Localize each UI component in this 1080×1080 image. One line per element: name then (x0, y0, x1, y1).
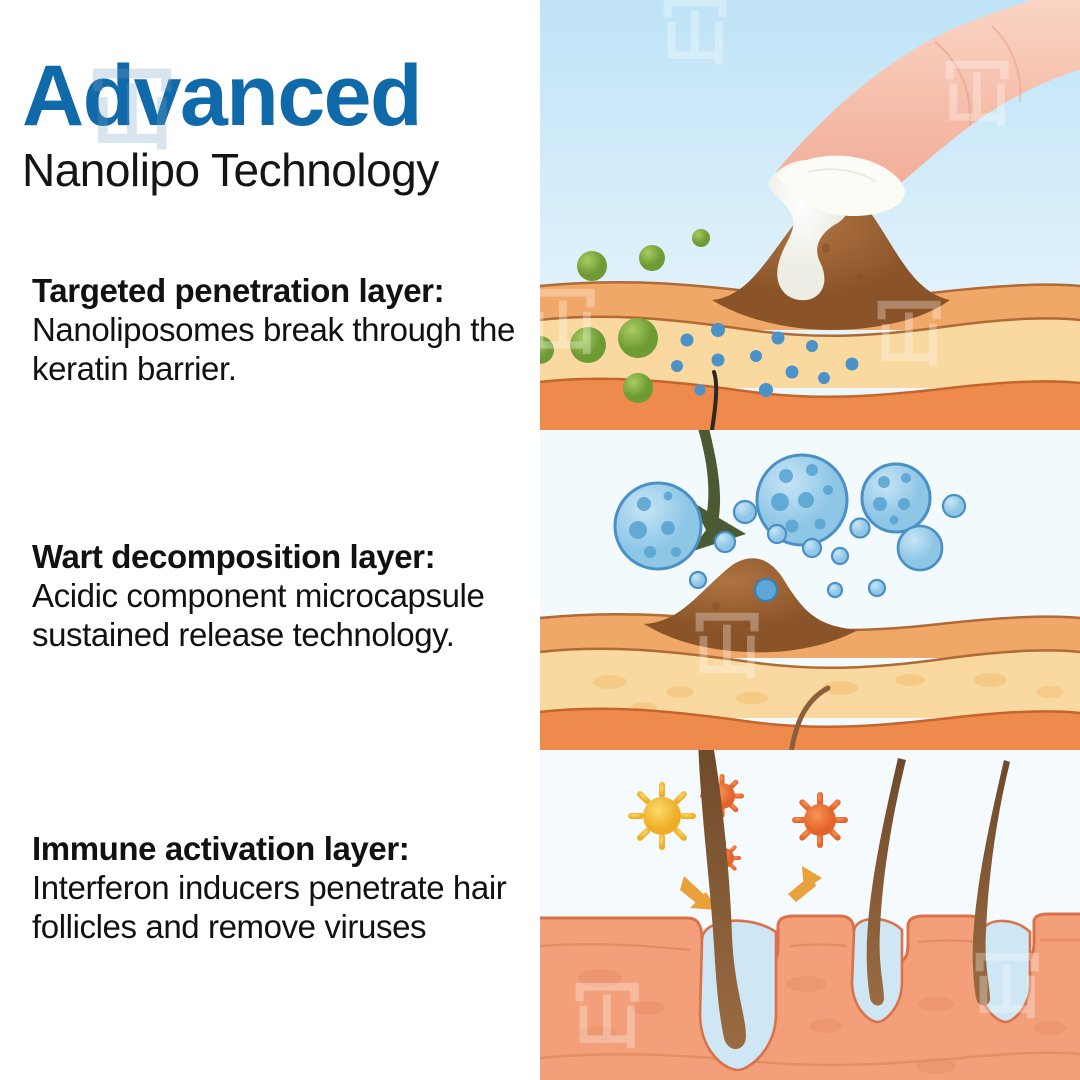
feature-3-lead: Immune activation layer: (32, 830, 409, 867)
green-particle (623, 373, 653, 403)
text-column: Advanced Nanolipo Technology Targeted pe… (0, 0, 540, 1080)
panel-application (540, 0, 1080, 430)
yellow-sun-burst (628, 782, 696, 850)
blue-liposome-large (862, 464, 930, 532)
green-particle (577, 251, 607, 281)
blue-liposome-large (898, 526, 942, 570)
green-particle (618, 318, 658, 358)
page-title: Advanced (22, 56, 538, 138)
feature-1-lead: Targeted penetration layer: (32, 272, 444, 309)
orange-virus-spike (792, 792, 848, 848)
feature-2-lead: Wart decomposition layer: (32, 538, 435, 575)
illustration-column: 冚 冚 冚 冚 冚 冚 冚 (540, 0, 1080, 1080)
feature-2-body: Acidic component microcapsule sustained … (32, 577, 484, 653)
panel-liposomes (540, 430, 1080, 760)
page-subtitle: Nanolipo Technology (22, 144, 538, 197)
feature-immune-activation: Immune activation layer: Interferon indu… (32, 830, 524, 947)
green-particle (570, 327, 606, 363)
feature-targeted-penetration: Targeted penetration layer: Nanoliposome… (32, 272, 524, 389)
green-particle (692, 229, 710, 247)
title-block: Advanced Nanolipo Technology (22, 56, 538, 197)
feature-3-body: Interferon inducers penetrate hair folli… (32, 869, 506, 945)
panel-follicles (540, 750, 1080, 1080)
blue-liposome-large (615, 483, 701, 569)
feature-wart-decomposition: Wart decomposition layer: Acidic compone… (32, 538, 524, 655)
feature-1-body: Nanoliposomes break through the keratin … (32, 311, 515, 387)
blue-liposome-small (755, 579, 777, 601)
infographic-page: Advanced Nanolipo Technology Targeted pe… (0, 0, 1080, 1080)
green-particle (639, 245, 665, 271)
